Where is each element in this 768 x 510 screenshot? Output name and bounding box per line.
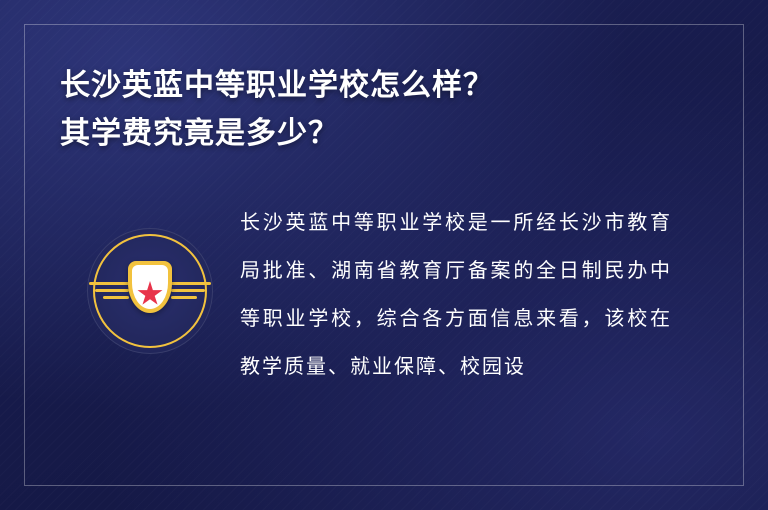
body-paragraph: 长沙英蓝中等职业学校是一所经长沙市教育局批准、湖南省教育厅备案的全日制民办中等职…	[240, 198, 676, 390]
wing-left-icon	[85, 282, 129, 302]
school-emblem-icon	[87, 228, 213, 354]
title-line-1: 长沙英蓝中等职业学校怎么样？	[60, 62, 700, 110]
title-line-2: 其学费究竟是多少？	[60, 110, 700, 158]
page-title: 长沙英蓝中等职业学校怎么样？ 其学费究竟是多少？	[60, 62, 700, 158]
emblem-container	[60, 198, 240, 354]
wing-right-icon	[171, 282, 215, 302]
poster-canvas: 长沙英蓝中等职业学校怎么样？ 其学费究竟是多少？ 长沙英蓝中等职业学校是一所经长…	[0, 0, 768, 510]
content-area: 长沙英蓝中等职业学校是一所经长沙市教育局批准、湖南省教育厅备案的全日制民办中等职…	[60, 198, 708, 460]
